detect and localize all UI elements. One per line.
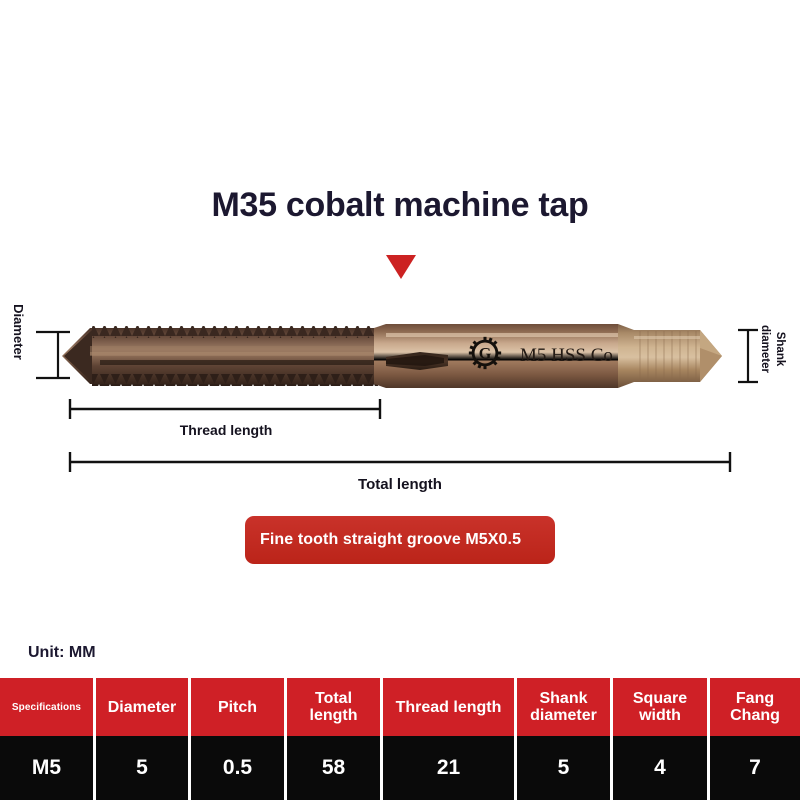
spec-value-cell: 5 [517,736,613,800]
spec-value-cell: 4 [613,736,710,800]
gear-logo-g: G [469,337,501,369]
spec-header-line: Total [315,690,352,707]
spec-header-cell: FangChang [710,678,800,736]
shank-diameter-label-line2: diameter [757,317,772,381]
page-title: M35 cobalt machine tap [0,186,800,225]
spec-table-header-row: SpecificationsDiameterPitchTotallengthTh… [0,678,800,736]
spec-header-line: Diameter [108,699,176,716]
spec-header-line: Thread length [396,699,502,716]
spec-value-cell: M5 [0,736,96,800]
shank-diameter-label-line1: Shank [772,317,787,381]
spec-header-line: Pitch [218,699,257,716]
spec-header-line: Chang [730,707,780,724]
spec-value-cell: 21 [383,736,517,800]
spec-value-cell: 5 [96,736,191,800]
red-triangle-down-icon [386,255,416,279]
spec-header-line: Square [633,690,687,707]
total-length-label: Total length [70,476,730,493]
spec-value-cell: 58 [287,736,383,800]
variant-badge: Fine tooth straight groove M5X0.5 [245,516,555,564]
shank-diameter-label: Shank diameter [747,317,787,381]
square-drive-end [618,324,722,388]
spec-header-cell: Diameter [96,678,191,736]
thread-section [62,326,382,386]
spec-header-line: length [310,707,358,724]
spec-header-cell: Shankdiameter [517,678,613,736]
spec-header-cell: Specifications [0,678,96,736]
svg-text:G: G [479,346,492,363]
spec-header-line: Fang [736,690,774,707]
thread-length-label: Thread length [70,422,382,438]
spec-header-cell: Squarewidth [613,678,710,736]
unit-label: Unit: MM [28,644,96,662]
spec-header-line: diameter [530,707,597,724]
spec-header-line: width [639,707,681,724]
shank-engraving: M5 HSS Co [520,345,613,366]
product-illustration: G M5 HSS Co [0,300,800,410]
spec-header-line: Shank [539,690,587,707]
diameter-label: Diameter [8,292,28,372]
spec-value-cell: 0.5 [191,736,287,800]
thread-length-dimension-line [0,395,800,423]
spec-value-cell: 7 [710,736,800,800]
spec-header-cell: Thread length [383,678,517,736]
spec-table: SpecificationsDiameterPitchTotallengthTh… [0,678,800,800]
spec-header-line: Specifications [12,699,81,716]
spec-header-cell: Pitch [191,678,287,736]
spec-header-cell: Totallength [287,678,383,736]
product-spec-page: M35 cobalt machine tap [0,0,800,800]
total-length-dimension-line [0,448,800,476]
spec-table-value-row: M550.55821547 [0,736,800,800]
